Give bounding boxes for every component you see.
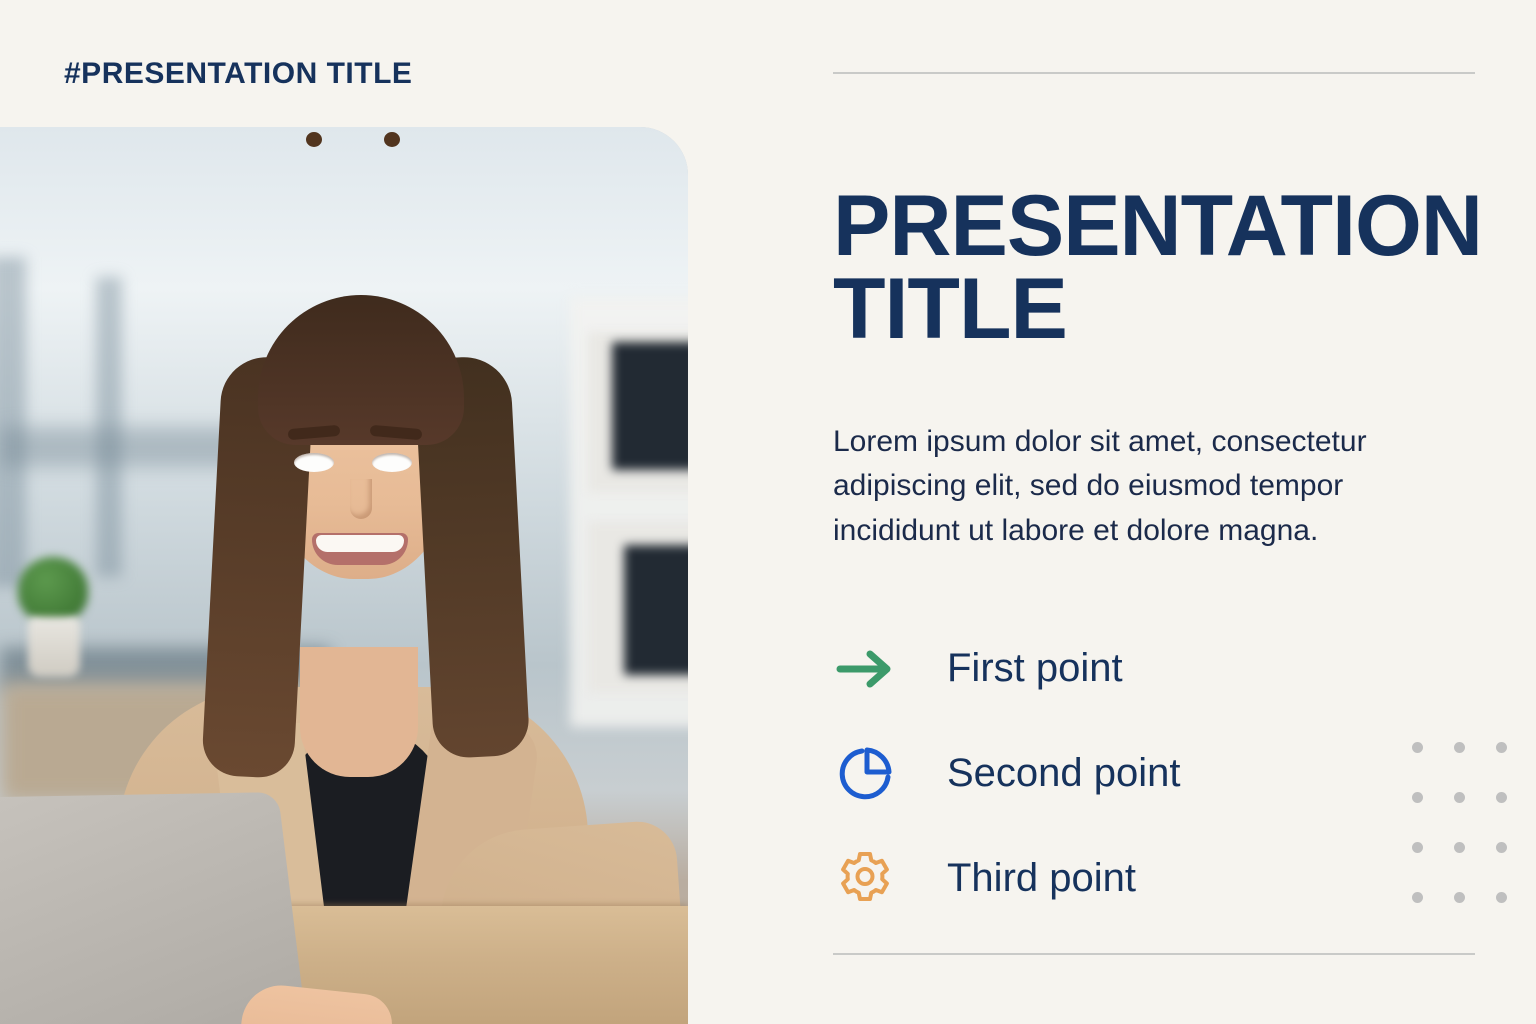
list-item-label: First point xyxy=(947,646,1123,691)
dot xyxy=(1412,892,1423,903)
list-item[interactable]: First point xyxy=(833,616,1473,721)
hero-photo xyxy=(0,127,688,1024)
slide-kicker: #PRESENTATION TITLE xyxy=(64,57,412,91)
list-item-label: Second point xyxy=(947,751,1181,796)
window-mullion xyxy=(0,257,26,587)
bullet-list: First point Second point Third point xyxy=(833,616,1473,931)
dot-grid-decoration xyxy=(1412,742,1536,942)
dot xyxy=(1454,742,1465,753)
eye-right xyxy=(372,453,412,472)
neck xyxy=(300,647,418,777)
plant-icon xyxy=(18,557,88,623)
dot xyxy=(1496,792,1507,803)
dot xyxy=(1454,892,1465,903)
list-item[interactable]: Third point xyxy=(833,826,1473,931)
dot xyxy=(1454,792,1465,803)
smile xyxy=(312,533,408,565)
list-item-label: Third point xyxy=(947,856,1136,901)
presentation-slide: #PRESENTATION TITLE xyxy=(0,0,1536,1024)
plant-pot xyxy=(28,617,80,677)
pie-chart-icon xyxy=(833,742,897,806)
dot xyxy=(1496,742,1507,753)
dot xyxy=(1412,842,1423,853)
divider-top xyxy=(833,72,1475,74)
arrow-right-icon xyxy=(833,637,897,701)
divider-bottom xyxy=(833,953,1475,955)
dot xyxy=(1496,892,1507,903)
body-paragraph: Lorem ipsum dolor sit amet, consectetur … xyxy=(833,420,1473,553)
page-title: PRESENTATION TITLE xyxy=(833,185,1483,350)
dot xyxy=(1454,842,1465,853)
iris-right xyxy=(384,132,400,147)
teeth xyxy=(316,535,404,552)
list-item[interactable]: Second point xyxy=(833,721,1473,826)
dot xyxy=(1496,842,1507,853)
books xyxy=(612,342,688,470)
nose xyxy=(350,479,372,519)
eye-left xyxy=(294,453,334,472)
gear-icon xyxy=(833,847,897,911)
dot xyxy=(1412,792,1423,803)
books xyxy=(624,545,688,675)
dot xyxy=(1412,742,1423,753)
iris-left xyxy=(306,132,322,147)
